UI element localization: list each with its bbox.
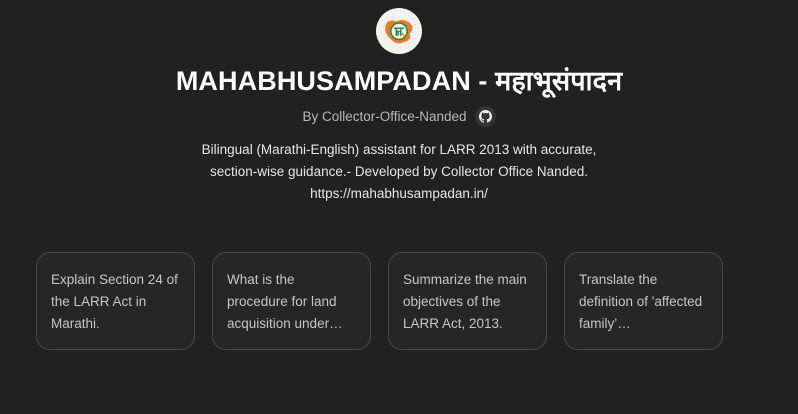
github-icon bbox=[479, 110, 492, 123]
suggestion-card-text: Explain Section 24 of the LARR Act in Ma… bbox=[51, 269, 180, 335]
description: Bilingual (Marathi-English) assistant fo… bbox=[189, 139, 609, 205]
gem-intro-screen: MAHABHUSAMPADAN - महाभूसंपादन By Collect… bbox=[0, 0, 798, 414]
page-title: MAHABHUSAMPADAN - महाभूसंपादन bbox=[176, 66, 622, 96]
byline-author: By Collector-Office-Nanded bbox=[302, 110, 466, 124]
description-line-1: Bilingual (Marathi-English) assistant fo… bbox=[189, 139, 609, 161]
suggestion-card-text: What is the procedure for land acquisiti… bbox=[227, 269, 356, 335]
suggestion-card[interactable]: Summarize the main objectives of the LAR… bbox=[388, 252, 547, 350]
byline: By Collector-Office-Nanded bbox=[302, 106, 495, 127]
suggestion-card-list: Explain Section 24 of the LARR Act in Ma… bbox=[36, 252, 723, 350]
description-line-3: https://mahabhusampadan.in/ bbox=[189, 183, 609, 205]
mahabhusampadan-logo-icon bbox=[379, 11, 419, 51]
description-line-2: section-wise guidance.- Developed by Col… bbox=[189, 161, 609, 183]
suggestion-card[interactable]: What is the procedure for land acquisiti… bbox=[212, 252, 371, 350]
app-logo bbox=[376, 8, 422, 54]
suggestion-card[interactable]: Explain Section 24 of the LARR Act in Ma… bbox=[36, 252, 195, 350]
suggestion-card-text: Translate the definition of 'affected fa… bbox=[579, 269, 708, 335]
suggestion-card-text: Summarize the main objectives of the LAR… bbox=[403, 269, 532, 335]
github-link[interactable] bbox=[475, 106, 496, 127]
suggestion-card[interactable]: Translate the definition of 'affected fa… bbox=[564, 252, 723, 350]
